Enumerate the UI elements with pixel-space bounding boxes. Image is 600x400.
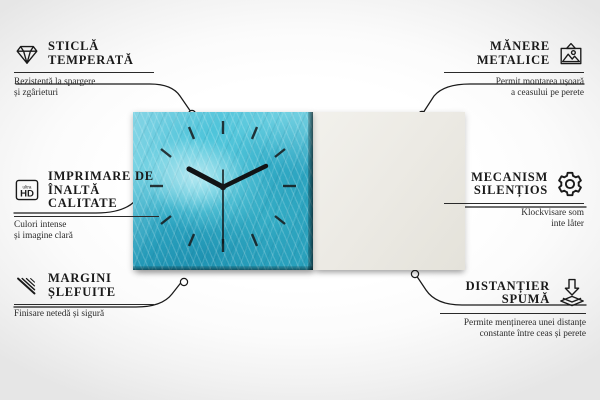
foam-spacer-icon [558, 278, 586, 308]
feature-description: Permite menținerea unei distanțe constan… [440, 318, 586, 340]
gear-icon [556, 170, 584, 198]
polished-edges-icon [14, 273, 40, 299]
picture-hanger-icon [558, 41, 584, 67]
clock-center-cap [220, 184, 226, 190]
feature-polished-edges: MARGINI ȘLEFUITE Finisare netedă și sigu… [14, 272, 154, 320]
divider [444, 203, 584, 204]
divider [14, 72, 154, 73]
divider [14, 304, 154, 305]
clock-back-panel [313, 112, 465, 270]
feature-title: MECANISM SILENȚIOS [471, 171, 548, 198]
feature-foam-spacer: DISTANȚIER SPUMĂ Permite menținerea unei… [440, 278, 586, 340]
divider [14, 216, 159, 217]
ultra-hd-icon: ultra HD [14, 177, 40, 203]
divider [440, 313, 586, 314]
feature-title: MĂNERE METALICE [477, 40, 550, 67]
feature-title: DISTANȚIER SPUMĂ [466, 280, 550, 307]
feature-high-quality-print: ultra HD IMPRIMARE DE ÎNALTĂ CALITATE Cu… [14, 170, 159, 242]
minute-hand [223, 166, 266, 187]
clock-face [133, 112, 313, 270]
infographic-canvas: STICLĂ TEMPERATĂ Rezistentă la spargere … [0, 0, 600, 400]
clock-dial [133, 112, 313, 270]
feature-title: STICLĂ TEMPERATĂ [48, 40, 134, 67]
clock-bottom-edge [133, 266, 313, 270]
feature-title: MARGINI ȘLEFUITE [48, 272, 116, 299]
divider [444, 72, 584, 73]
ultra-hd-icon-main: HD [20, 189, 34, 200]
feature-description: Permit montarea ușoară a ceasului pe per… [444, 77, 584, 99]
feature-tempered-glass: STICLĂ TEMPERATĂ Rezistentă la spargere … [14, 40, 154, 99]
feature-description: Culori intense și imagine clară [14, 220, 159, 242]
clock-right-edge [308, 112, 313, 270]
feature-description: Klockvisare som inte låter [444, 208, 584, 230]
hour-hand [189, 169, 223, 187]
clock-hands [189, 166, 266, 243]
feature-description: Rezistentă la spargere și zgârieturi [14, 77, 154, 99]
wire-endpoint-edges [180, 278, 187, 285]
feature-metal-handles: MĂNERE METALICE Permit montarea ușoară a… [444, 40, 584, 99]
feature-title: IMPRIMARE DE ÎNALTĂ CALITATE [48, 170, 159, 211]
feature-description: Finisare netedă și sigură [14, 309, 154, 320]
feature-silent-mechanism: MECANISM SILENȚIOS Klockvisare som inte … [444, 170, 584, 230]
diamond-icon [14, 41, 40, 67]
